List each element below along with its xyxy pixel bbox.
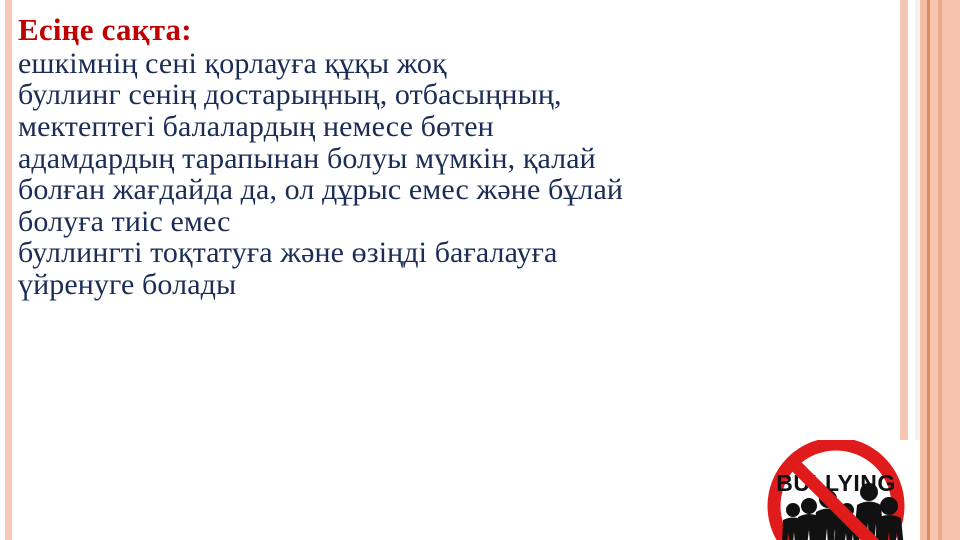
body-line-8: үйренуге болады [18, 269, 898, 301]
slide: Есіңе сақта: ешкімнің сені қорлауға құқы… [0, 0, 960, 540]
body-line-3: мектептегі балалардың немесе бөтен [18, 111, 898, 143]
body-line-5: болған жағдайда да, ол дұрыс емес және б… [18, 174, 898, 206]
right-decorative-stripe-4 [920, 0, 927, 540]
no-bullying-sign-icon: BULLYING [752, 440, 920, 540]
body-line-7: буллингті тоқтатуға және өзіңді бағалауғ… [18, 237, 898, 269]
text-block: Есіңе сақта: ешкімнің сені қорлауға құқы… [18, 14, 898, 301]
body-line-2: буллинг сенің достарыңның, отбасыңның, [18, 79, 898, 111]
left-decorative-stripe [5, 0, 12, 540]
slide-heading: Есіңе сақта: [18, 14, 898, 46]
body-line-4: адамдардың тарапынан болуы мүмкін, қалай [18, 143, 898, 175]
body-line-1: ешкімнің сені қорлауға құқы жоқ [18, 48, 898, 80]
right-decorative-stripe-8 [942, 0, 960, 540]
body-line-6: болуға тиіс емес [18, 206, 898, 238]
right-decorative-stripe-6 [930, 0, 938, 540]
